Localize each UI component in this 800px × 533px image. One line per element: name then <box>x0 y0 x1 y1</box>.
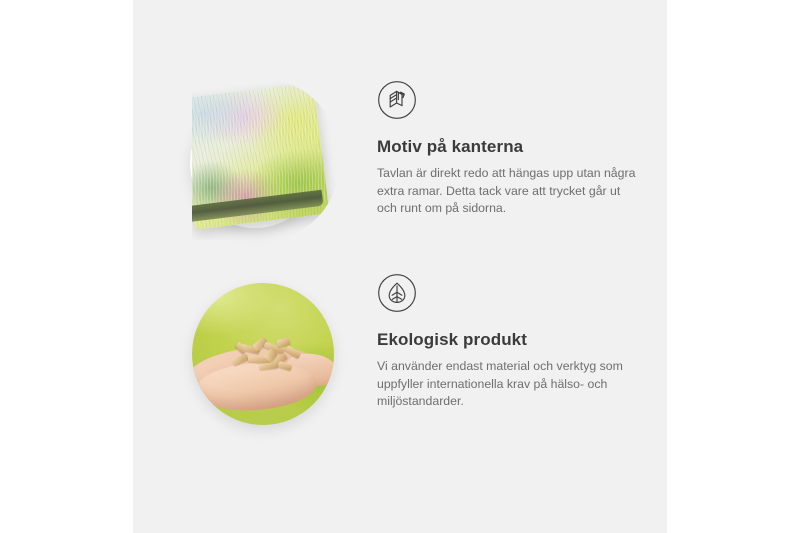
feature-ekologisk-produkt: Ekologisk produkt Vi använder endast mat… <box>180 273 670 433</box>
feature-text-block: Ekologisk produkt Vi använder endast mat… <box>340 273 670 411</box>
eco-circle-image <box>192 283 334 425</box>
feature-title: Motiv på kanterna <box>377 137 670 157</box>
feature-title: Ekologisk produkt <box>377 330 670 350</box>
feature-description: Tavlan är direkt redo att hängas upp uta… <box>377 165 642 218</box>
feature-text-block: Motiv på kanterna Tavlan är direkt redo … <box>340 80 670 218</box>
leaf-icon <box>377 273 417 313</box>
wood-chips-pile <box>229 337 309 380</box>
content-panel: Motiv på kanterna Tavlan är direkt redo … <box>133 0 667 533</box>
canvas-print-corner-photo <box>180 80 340 240</box>
product-feature-panel: Motiv på kanterna Tavlan är direkt redo … <box>0 0 800 533</box>
wrapped-canvas-edge-icon <box>377 80 417 120</box>
canvas-circle-clip <box>192 80 340 240</box>
feature-motiv-pa-kanterna: Motiv på kanterna Tavlan är direkt redo … <box>180 80 670 240</box>
hands-holding-wood-chips-photo <box>180 273 340 433</box>
feature-description: Vi använder endast material och verktyg … <box>377 358 647 411</box>
